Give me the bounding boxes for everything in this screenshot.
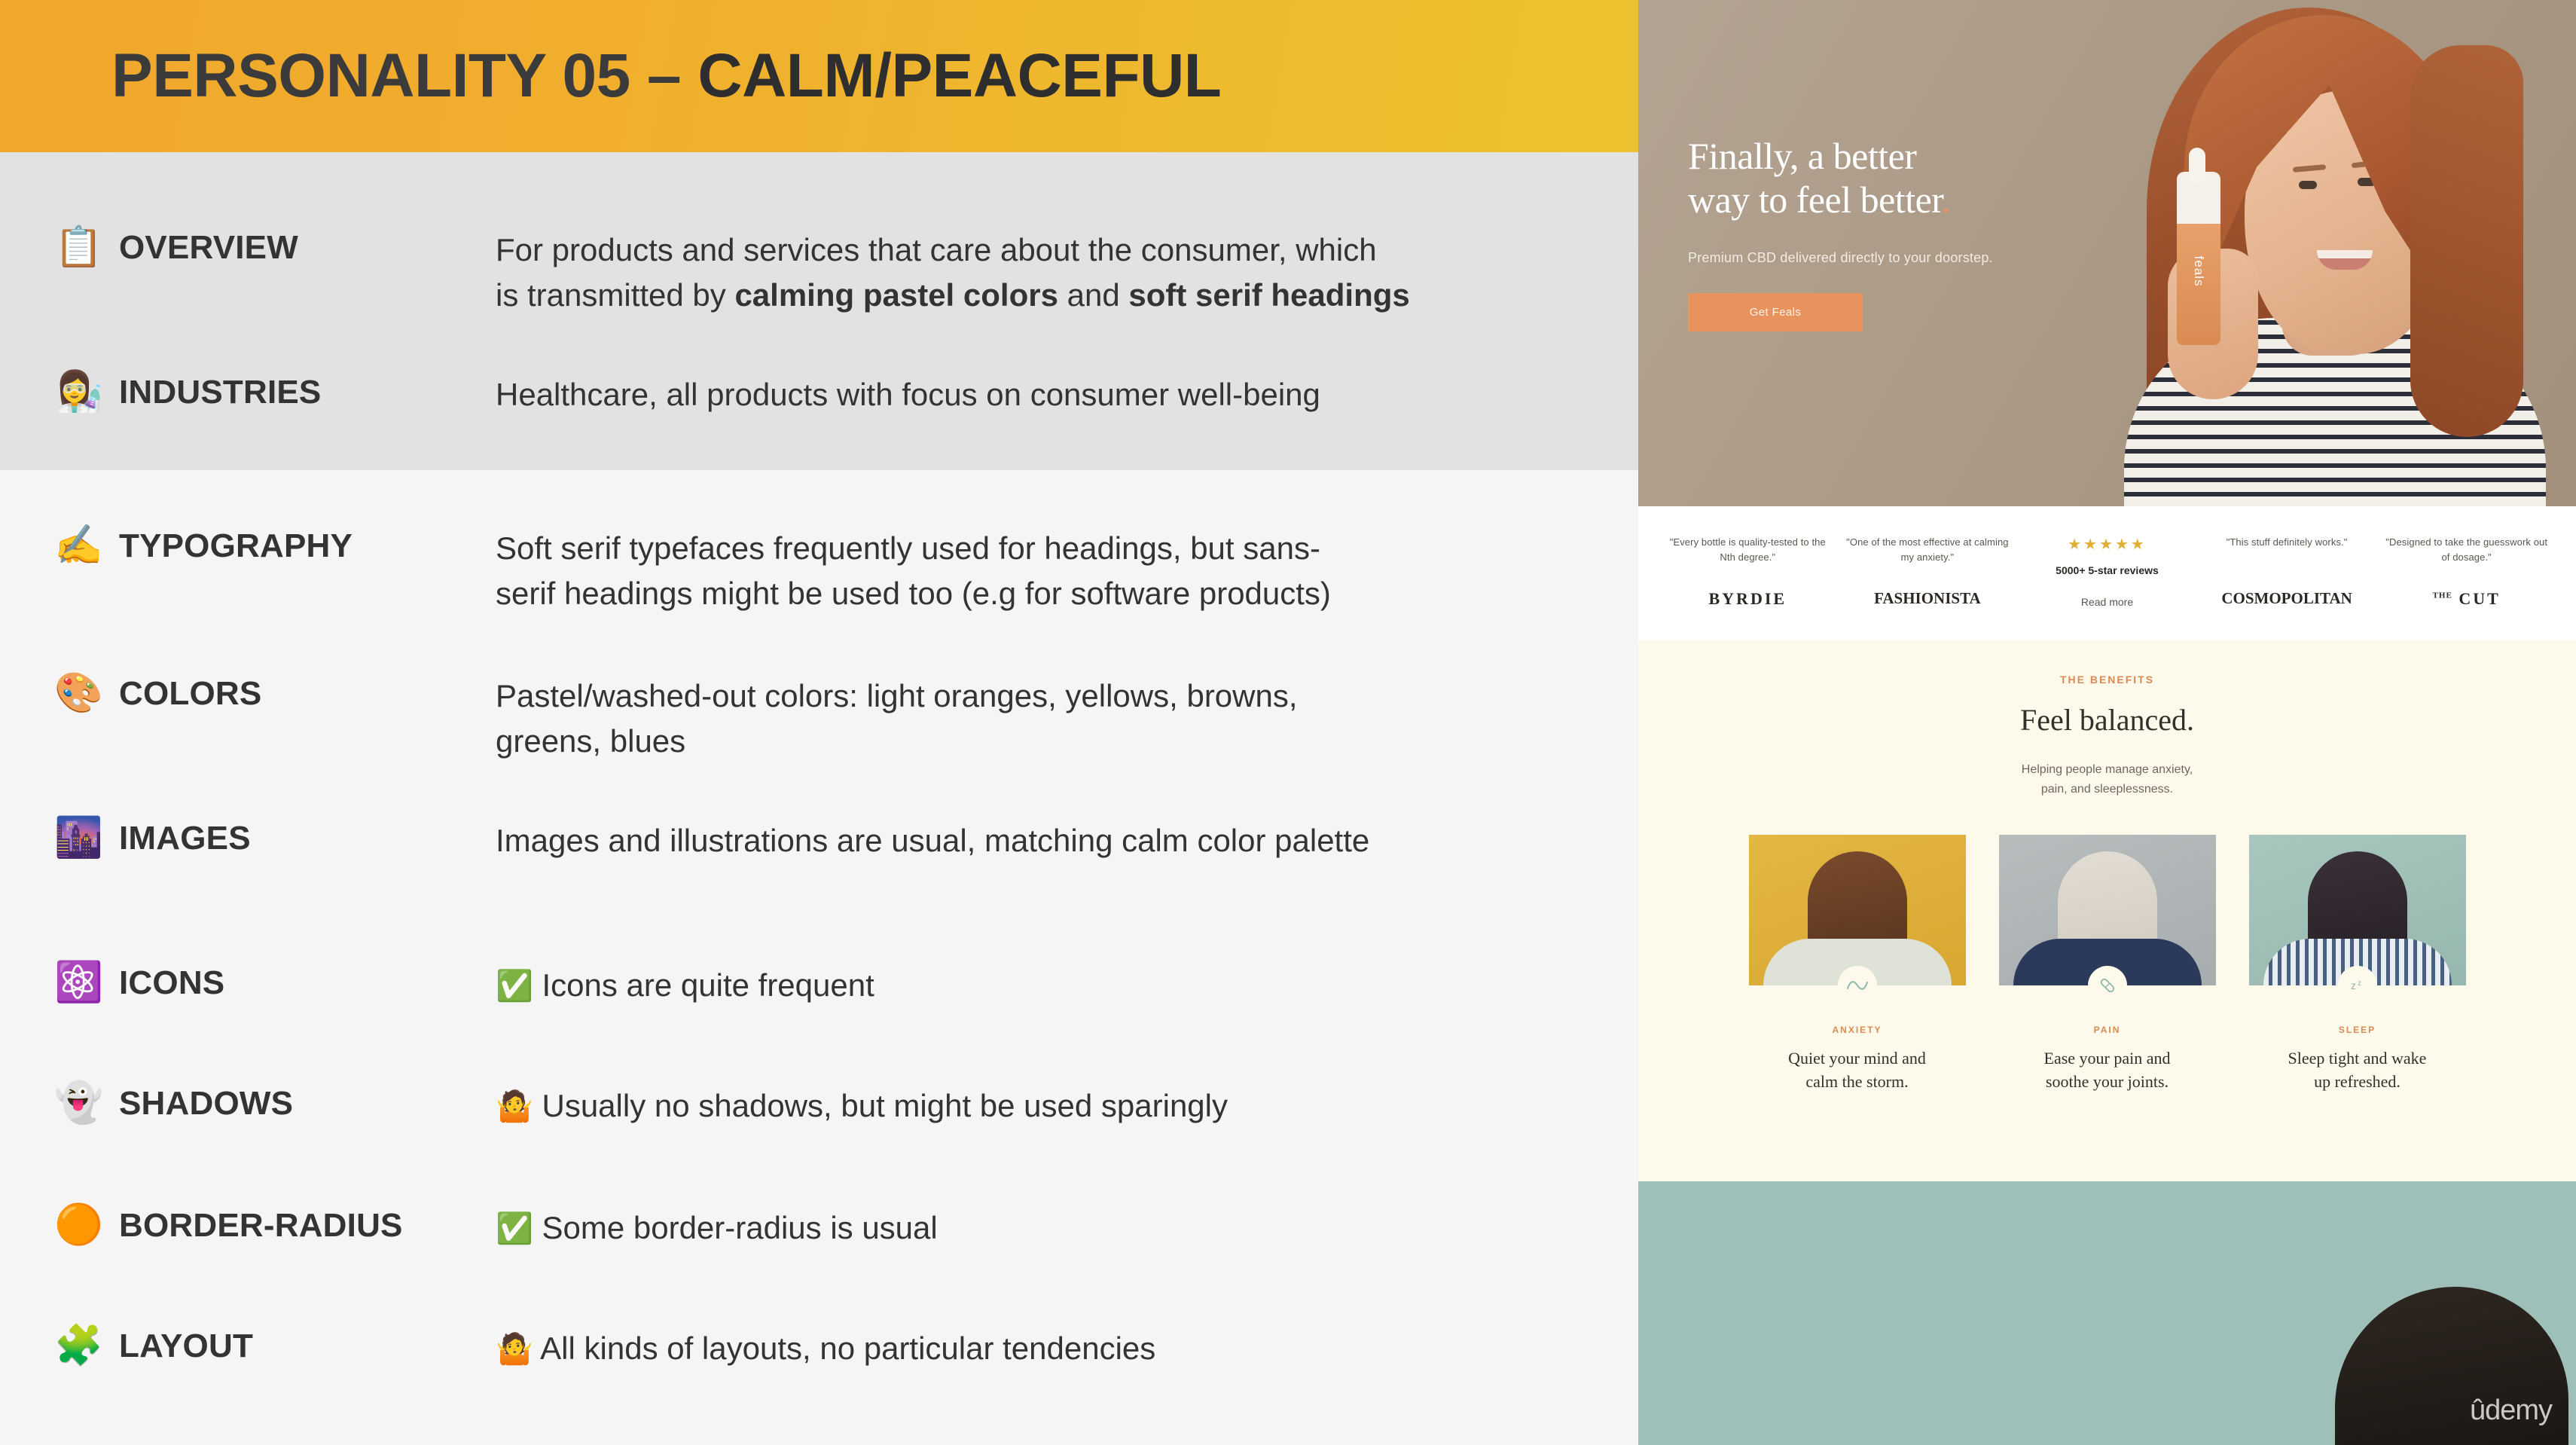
benefit-photo bbox=[1999, 835, 2216, 985]
slide-title-bar: PERSONALITY 05 – CALM/PEACEFUL bbox=[0, 0, 1638, 152]
shrug-icon: 🤷 bbox=[496, 1089, 533, 1124]
star-rating-icon: ★★★★★ bbox=[2025, 535, 2190, 554]
benefit-tag: ANXIETY bbox=[1749, 1025, 1966, 1035]
desc-text: is transmitted by bbox=[496, 277, 734, 313]
benefit-photo bbox=[1749, 835, 1966, 985]
model-teeth bbox=[2317, 250, 2373, 258]
benefit-text-line2: calm the storm. bbox=[1749, 1071, 1966, 1094]
row-desc-industries: Healthcare, all products with focus on c… bbox=[496, 372, 1320, 417]
hero-headline-line1: Finally, a better bbox=[1688, 134, 2110, 178]
svg-text:z: z bbox=[2351, 979, 2356, 991]
row-label-shadows: SHADOWS bbox=[119, 1083, 496, 1121]
table-row: ⚛️ ICONS ✅ Icons are quite frequent bbox=[54, 963, 874, 1008]
desc-text: Some border-radius is usual bbox=[542, 1210, 937, 1245]
row-label-typography: TYPOGRAPHY bbox=[119, 526, 496, 564]
desc-text: and bbox=[1058, 277, 1128, 313]
table-row: 🟠 BORDER-RADIUS ✅ Some border-radius is … bbox=[54, 1205, 938, 1251]
desc-line: For products and services that care abou… bbox=[496, 228, 1410, 273]
press-reviews-item: ★★★★★ 5000+ 5-star reviews Read more bbox=[2017, 535, 2197, 608]
get-feals-button[interactable]: Get Feals bbox=[1688, 293, 1863, 331]
row-label-border-radius: BORDER-RADIUS bbox=[119, 1205, 496, 1243]
orange-circle-icon: 🟠 bbox=[54, 1205, 119, 1245]
reviews-count: 5000+ 5-star reviews bbox=[2025, 564, 2190, 576]
benefit-tag: SLEEP bbox=[2249, 1025, 2466, 1035]
model-hair-side bbox=[2410, 45, 2523, 437]
svg-text:z: z bbox=[2358, 979, 2361, 988]
benefits-eyebrow: THE BENEFITS bbox=[1638, 640, 2576, 686]
bandage-icon bbox=[2088, 966, 2127, 1005]
row-label-icons: ICONS bbox=[119, 963, 496, 1001]
row-desc-border-radius: ✅ Some border-radius is usual bbox=[496, 1205, 938, 1251]
scientist-icon: 👩‍🔬 bbox=[54, 372, 119, 411]
title-prefix: PERSONALITY 05 – bbox=[111, 41, 697, 110]
table-row: 🎨 COLORS Pastel/washed-out colors: light… bbox=[54, 674, 1298, 763]
ghost-icon: 👻 bbox=[54, 1083, 119, 1123]
model-eye-left bbox=[2299, 181, 2317, 189]
hero-headline-line2: way to feel better. bbox=[1688, 178, 2110, 221]
product-bottle-label: feals bbox=[2176, 249, 2221, 293]
desc-line: serif headings might be used too (e.g fo… bbox=[496, 571, 1331, 616]
wave-icon bbox=[1838, 966, 1877, 1005]
desc-text: Usually no shadows, but might be used sp… bbox=[542, 1088, 1228, 1123]
attribute-rows: 📋 OVERVIEW For products and services tha… bbox=[0, 152, 1638, 1445]
udemy-watermark: ûdemy bbox=[2470, 1395, 2552, 1427]
desc-line: Soft serif typefaces frequently used for… bbox=[496, 526, 1331, 571]
press-item: "Every bottle is quality-tested to the N… bbox=[1658, 535, 1838, 609]
atom-icon: ⚛️ bbox=[54, 963, 119, 1002]
row-desc-layout: 🤷 All kinds of layouts, no particular te… bbox=[496, 1326, 1155, 1371]
zzz-icon: zz bbox=[2338, 966, 2377, 1005]
desc-text: All kinds of layouts, no particular tend… bbox=[540, 1330, 1155, 1366]
press-quote: "This stuff definitely works." bbox=[2205, 535, 2370, 567]
left-content-panel: PERSONALITY 05 – CALM/PEACEFUL 📋 OVERVIE… bbox=[0, 0, 1638, 1445]
benefit-card-pain[interactable]: PAIN Ease your pain and soothe your join… bbox=[1999, 835, 2216, 1094]
benefits-headline: Feel balanced. bbox=[1638, 702, 2576, 738]
desc-bold: soft serif headings bbox=[1128, 277, 1409, 313]
row-label-industries: INDUSTRIES bbox=[119, 372, 496, 410]
slide: PERSONALITY 05 – CALM/PEACEFUL 📋 OVERVIE… bbox=[0, 0, 2576, 1445]
desc-line: Pastel/washed-out colors: light oranges,… bbox=[496, 674, 1298, 719]
row-desc-typography: Soft serif typefaces frequently used for… bbox=[496, 526, 1331, 616]
benefit-card-anxiety[interactable]: ANXIETY Quiet your mind and calm the sto… bbox=[1749, 835, 1966, 1094]
check-mark-button-icon: ✅ bbox=[496, 969, 533, 1004]
benefit-photo bbox=[2249, 835, 2466, 985]
row-desc-colors: Pastel/washed-out colors: light oranges,… bbox=[496, 674, 1298, 763]
fashionista-logo: FASHIONISTA bbox=[1845, 589, 2010, 608]
table-row: 📋 OVERVIEW For products and services tha… bbox=[54, 228, 1410, 317]
row-desc-shadows: 🤷 Usually no shadows, but might be used … bbox=[496, 1083, 1228, 1129]
benefit-cards: ANXIETY Quiet your mind and calm the sto… bbox=[1638, 835, 2576, 1094]
puzzle-piece-icon: 🧩 bbox=[54, 1326, 119, 1365]
row-label-colors: COLORS bbox=[119, 674, 496, 711]
website-benefits-section: THE BENEFITS Feel balanced. Helping peop… bbox=[1638, 640, 2576, 1181]
table-row: 👩‍🔬 INDUSTRIES Healthcare, all products … bbox=[54, 372, 1320, 417]
press-quote: "Every bottle is quality-tested to the N… bbox=[1665, 535, 1830, 567]
table-row: 🧩 LAYOUT 🤷 All kinds of layouts, no part… bbox=[54, 1326, 1155, 1371]
shrug-icon: 🤷 bbox=[496, 1332, 533, 1367]
the-cut-prefix: THE bbox=[2433, 591, 2452, 600]
palette-icon: 🎨 bbox=[54, 674, 119, 713]
model-mouth bbox=[2317, 250, 2373, 270]
hero-model-photo: feals bbox=[2056, 0, 2576, 506]
benefit-card-sleep[interactable]: zz SLEEP Sleep tight and wake up refresh… bbox=[2249, 835, 2466, 1094]
byrdie-logo: BYRDIE bbox=[1665, 589, 1830, 609]
benefits-subtext: Helping people manage anxiety, pain, and… bbox=[1638, 760, 2576, 799]
hero-headline-dot: . bbox=[1942, 179, 1951, 221]
read-more-link[interactable]: Read more bbox=[2025, 596, 2190, 608]
benefit-text: Ease your pain and soothe your joints. bbox=[1999, 1047, 2216, 1094]
clipboard-icon: 📋 bbox=[54, 228, 119, 267]
press-item: "This stuff definitely works." COSMOPOLI… bbox=[2197, 535, 2377, 608]
hero-copy: Finally, a better way to feel better. Pr… bbox=[1688, 134, 2110, 331]
hero-headline: Finally, a better way to feel better. bbox=[1688, 134, 2110, 221]
benefit-text-line1: Quiet your mind and bbox=[1749, 1047, 1966, 1071]
the-cut-name: CUT bbox=[2458, 589, 2500, 608]
website-hero-section: feals Finally, a better way to feel bett… bbox=[1638, 0, 2576, 506]
row-desc-icons: ✅ Icons are quite frequent bbox=[496, 963, 874, 1008]
press-item: "One of the most effective at calming my… bbox=[1838, 535, 2018, 608]
press-quote: "Designed to take the guesswork out of d… bbox=[2384, 535, 2549, 567]
desc-bold: calming pastel colors bbox=[734, 277, 1058, 313]
press-logos-bar: "Every bottle is quality-tested to the N… bbox=[1638, 506, 2576, 640]
desc-line: is transmitted by calming pastel colors … bbox=[496, 273, 1410, 318]
writing-hand-icon: ✍️ bbox=[54, 526, 119, 565]
benefit-text-line2: soothe your joints. bbox=[1999, 1071, 2216, 1094]
desc-line: greens, blues bbox=[496, 719, 1298, 764]
benefit-tag: PAIN bbox=[1999, 1025, 2216, 1035]
table-row: 🌆 IMAGES Images and illustrations are us… bbox=[54, 818, 1369, 863]
row-label-images: IMAGES bbox=[119, 818, 496, 856]
press-quote: "One of the most effective at calming my… bbox=[1845, 535, 2010, 567]
table-row: 👻 SHADOWS 🤷 Usually no shadows, but migh… bbox=[54, 1083, 1228, 1129]
hero-subheadline: Premium CBD delivered directly to your d… bbox=[1688, 250, 2110, 266]
row-desc-images: Images and illustrations are usual, matc… bbox=[496, 818, 1369, 863]
product-bottle-cap bbox=[2189, 148, 2205, 182]
page-title: PERSONALITY 05 – CALM/PEACEFUL bbox=[111, 41, 1221, 112]
check-mark-button-icon: ✅ bbox=[496, 1211, 533, 1246]
title-strong: CALM/PEACEFUL bbox=[697, 41, 1221, 110]
benefit-text-line2: up refreshed. bbox=[2249, 1071, 2466, 1094]
the-cut-logo: THE CUT bbox=[2384, 589, 2549, 609]
benefit-text-line1: Sleep tight and wake bbox=[2249, 1047, 2466, 1071]
benefit-text: Quiet your mind and calm the storm. bbox=[1749, 1047, 1966, 1094]
benefit-text-line1: Ease your pain and bbox=[1999, 1047, 2216, 1071]
benefits-subtext-line2: pain, and sleeplessness. bbox=[1638, 780, 2576, 799]
website-teal-section bbox=[1638, 1181, 2576, 1445]
row-desc-overview: For products and services that care abou… bbox=[496, 228, 1410, 317]
cityscape-icon: 🌆 bbox=[54, 818, 119, 857]
website-screenshot-panel: feals Finally, a better way to feel bett… bbox=[1638, 0, 2576, 1445]
desc-text: Icons are quite frequent bbox=[542, 967, 874, 1003]
benefit-text: Sleep tight and wake up refreshed. bbox=[2249, 1047, 2466, 1094]
cosmopolitan-logo: COSMOPOLITAN bbox=[2205, 589, 2370, 608]
press-item: "Designed to take the guesswork out of d… bbox=[2376, 535, 2556, 609]
row-label-layout: LAYOUT bbox=[119, 1326, 496, 1364]
table-row: ✍️ TYPOGRAPHY Soft serif typefaces frequ… bbox=[54, 526, 1331, 616]
hero-headline-text: way to feel better bbox=[1688, 179, 1942, 221]
benefits-subtext-line1: Helping people manage anxiety, bbox=[1638, 760, 2576, 780]
row-label-overview: OVERVIEW bbox=[119, 228, 496, 265]
